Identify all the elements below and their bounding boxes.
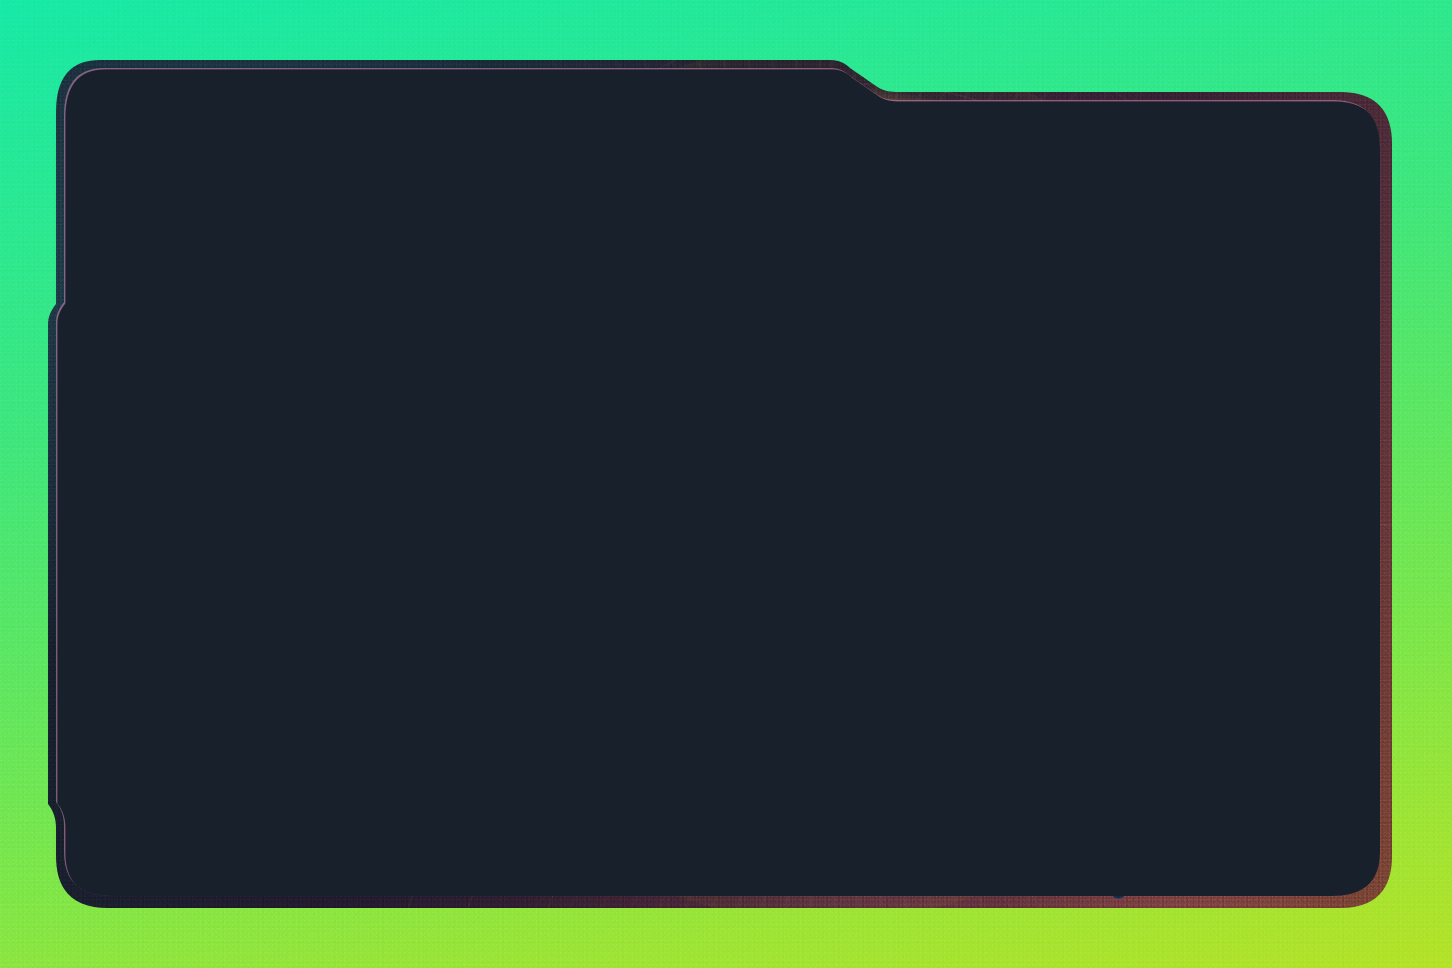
status-report-banner: MAR 9 2023 STATUS REPORT AND HEAL THE EA… [0, 0, 1452, 968]
date-label: MAR 9 2023 [179, 389, 899, 433]
page-title-line-2: REPORT [179, 543, 957, 643]
headline-block: MAR 9 2023 STATUS REPORT AND HEAL THE EA… [179, 389, 899, 750]
status-report-card: MAR 9 2023 STATUS REPORT AND HEAL THE EA… [48, 56, 1392, 908]
fine-print-text: AND HEAL THE EARTH WHICH THE ANGELS HAVE… [179, 659, 357, 694]
subtitle-text: New updates and improvements to the Geno… [179, 721, 899, 750]
